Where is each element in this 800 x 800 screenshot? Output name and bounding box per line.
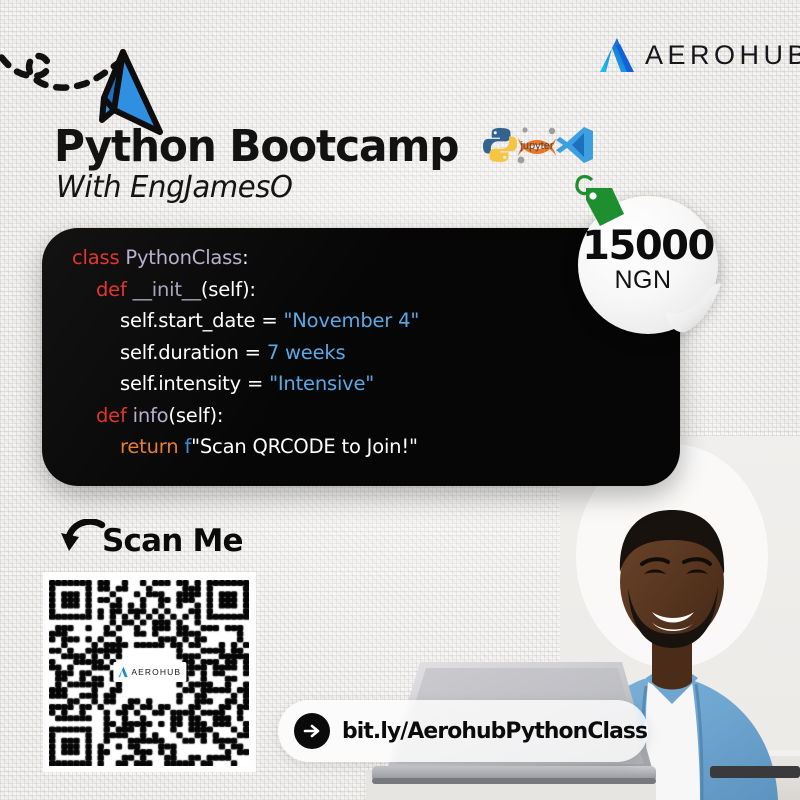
code-token: class bbox=[72, 246, 125, 269]
code-token: __init__ bbox=[133, 278, 201, 301]
code-token: self.duration = bbox=[120, 341, 267, 364]
qr-code-card[interactable]: AEROHUB bbox=[43, 572, 256, 772]
code-token: (self): bbox=[201, 278, 256, 301]
code-token: 7 weeks bbox=[267, 341, 346, 364]
scan-me-group: Scan Me bbox=[60, 519, 243, 563]
arrow-right-circle-icon bbox=[294, 713, 330, 749]
svg-text:jupyter: jupyter bbox=[520, 140, 554, 152]
cta-url-pill[interactable]: bit.ly/AerohubPythonClass bbox=[278, 700, 648, 762]
code-token: return bbox=[120, 435, 184, 458]
aerohub-triangle-mark-icon bbox=[600, 36, 640, 74]
aerohub-triangle-mark-icon bbox=[118, 666, 130, 678]
brand-name: AEROHUB bbox=[645, 42, 800, 69]
code-line: return f"Scan QRCODE to Join!" bbox=[72, 431, 666, 463]
cta-url-text: bit.ly/AerohubPythonClass bbox=[342, 718, 647, 744]
code-line: self.duration = 7 weeks bbox=[72, 337, 666, 369]
brand-logo: AEROHUB bbox=[600, 36, 800, 74]
code-line: def info(self): bbox=[72, 400, 666, 432]
code-token: def bbox=[96, 278, 133, 301]
dashed-trail-icon bbox=[0, 40, 120, 88]
code-line: self.intensity = "Intensive" bbox=[72, 368, 666, 400]
headline-row: Python Bootcamp jupyter bbox=[54, 124, 595, 169]
code-token: self.start_date = bbox=[120, 309, 284, 332]
code-block-content: class PythonClass: def __init__(self): s… bbox=[72, 242, 666, 463]
code-token: "Intensive" bbox=[269, 372, 374, 395]
code-token: (self): bbox=[168, 404, 223, 427]
poster-root: AEROHUB Python Bootcamp bbox=[0, 0, 800, 800]
qr-center-logo: AEROHUB bbox=[113, 662, 186, 682]
price-tag-icon bbox=[572, 174, 632, 236]
code-token: def bbox=[96, 404, 133, 427]
scan-me-label: Scan Me bbox=[102, 526, 243, 557]
code-token: info bbox=[133, 404, 169, 427]
qr-center-brand-name: AEROHUB bbox=[131, 668, 181, 677]
code-line: def __init__(self): bbox=[72, 274, 666, 306]
code-token: "November 4" bbox=[284, 309, 420, 332]
page-subtitle: With EngJamesO bbox=[56, 170, 293, 205]
sticker-curl-corner bbox=[664, 282, 722, 336]
code-token: : bbox=[242, 246, 248, 269]
code-line: class PythonClass: bbox=[72, 242, 666, 274]
tech-logos-group: jupyter bbox=[479, 124, 595, 166]
code-token: self.intensity = bbox=[120, 372, 269, 395]
code-token: PythonClass bbox=[125, 246, 242, 269]
curved-arrow-down-icon bbox=[60, 519, 106, 563]
paper-plane-icon bbox=[102, 52, 160, 132]
vscode-logo-icon bbox=[555, 124, 595, 166]
code-token: "Scan QRCODE to Join!" bbox=[191, 435, 418, 458]
page-title: Python Bootcamp bbox=[54, 125, 458, 169]
code-line: self.start_date = "November 4" bbox=[72, 305, 666, 337]
price-sticker: 15000 NGN bbox=[578, 196, 718, 334]
